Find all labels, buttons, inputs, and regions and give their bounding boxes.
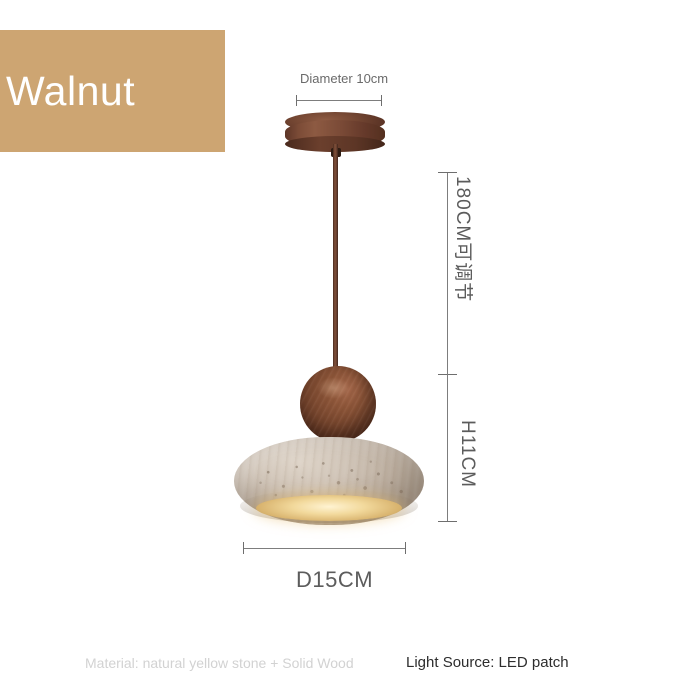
led-diffuser-glow xyxy=(256,495,402,521)
product-spec-image: Walnut Diameter 10cm 180CM可调节 H xyxy=(0,0,700,700)
light-source-spec-label: Light Source: LED patch xyxy=(406,654,569,671)
cord-length-label: 180CM可调节 xyxy=(451,176,478,302)
shade-diameter-label: D15CM xyxy=(296,567,373,593)
suspension-rod xyxy=(333,144,338,382)
shade-height-label: H11CM xyxy=(456,420,478,488)
finish-label: Walnut xyxy=(0,71,135,112)
canopy-diameter-label: Diameter 10cm xyxy=(300,71,388,86)
stone-shade xyxy=(234,437,424,525)
wood-sphere xyxy=(300,366,376,442)
finish-swatch-banner: Walnut xyxy=(0,30,225,152)
material-spec-label: Material: natural yellow stone + Solid W… xyxy=(85,655,354,671)
